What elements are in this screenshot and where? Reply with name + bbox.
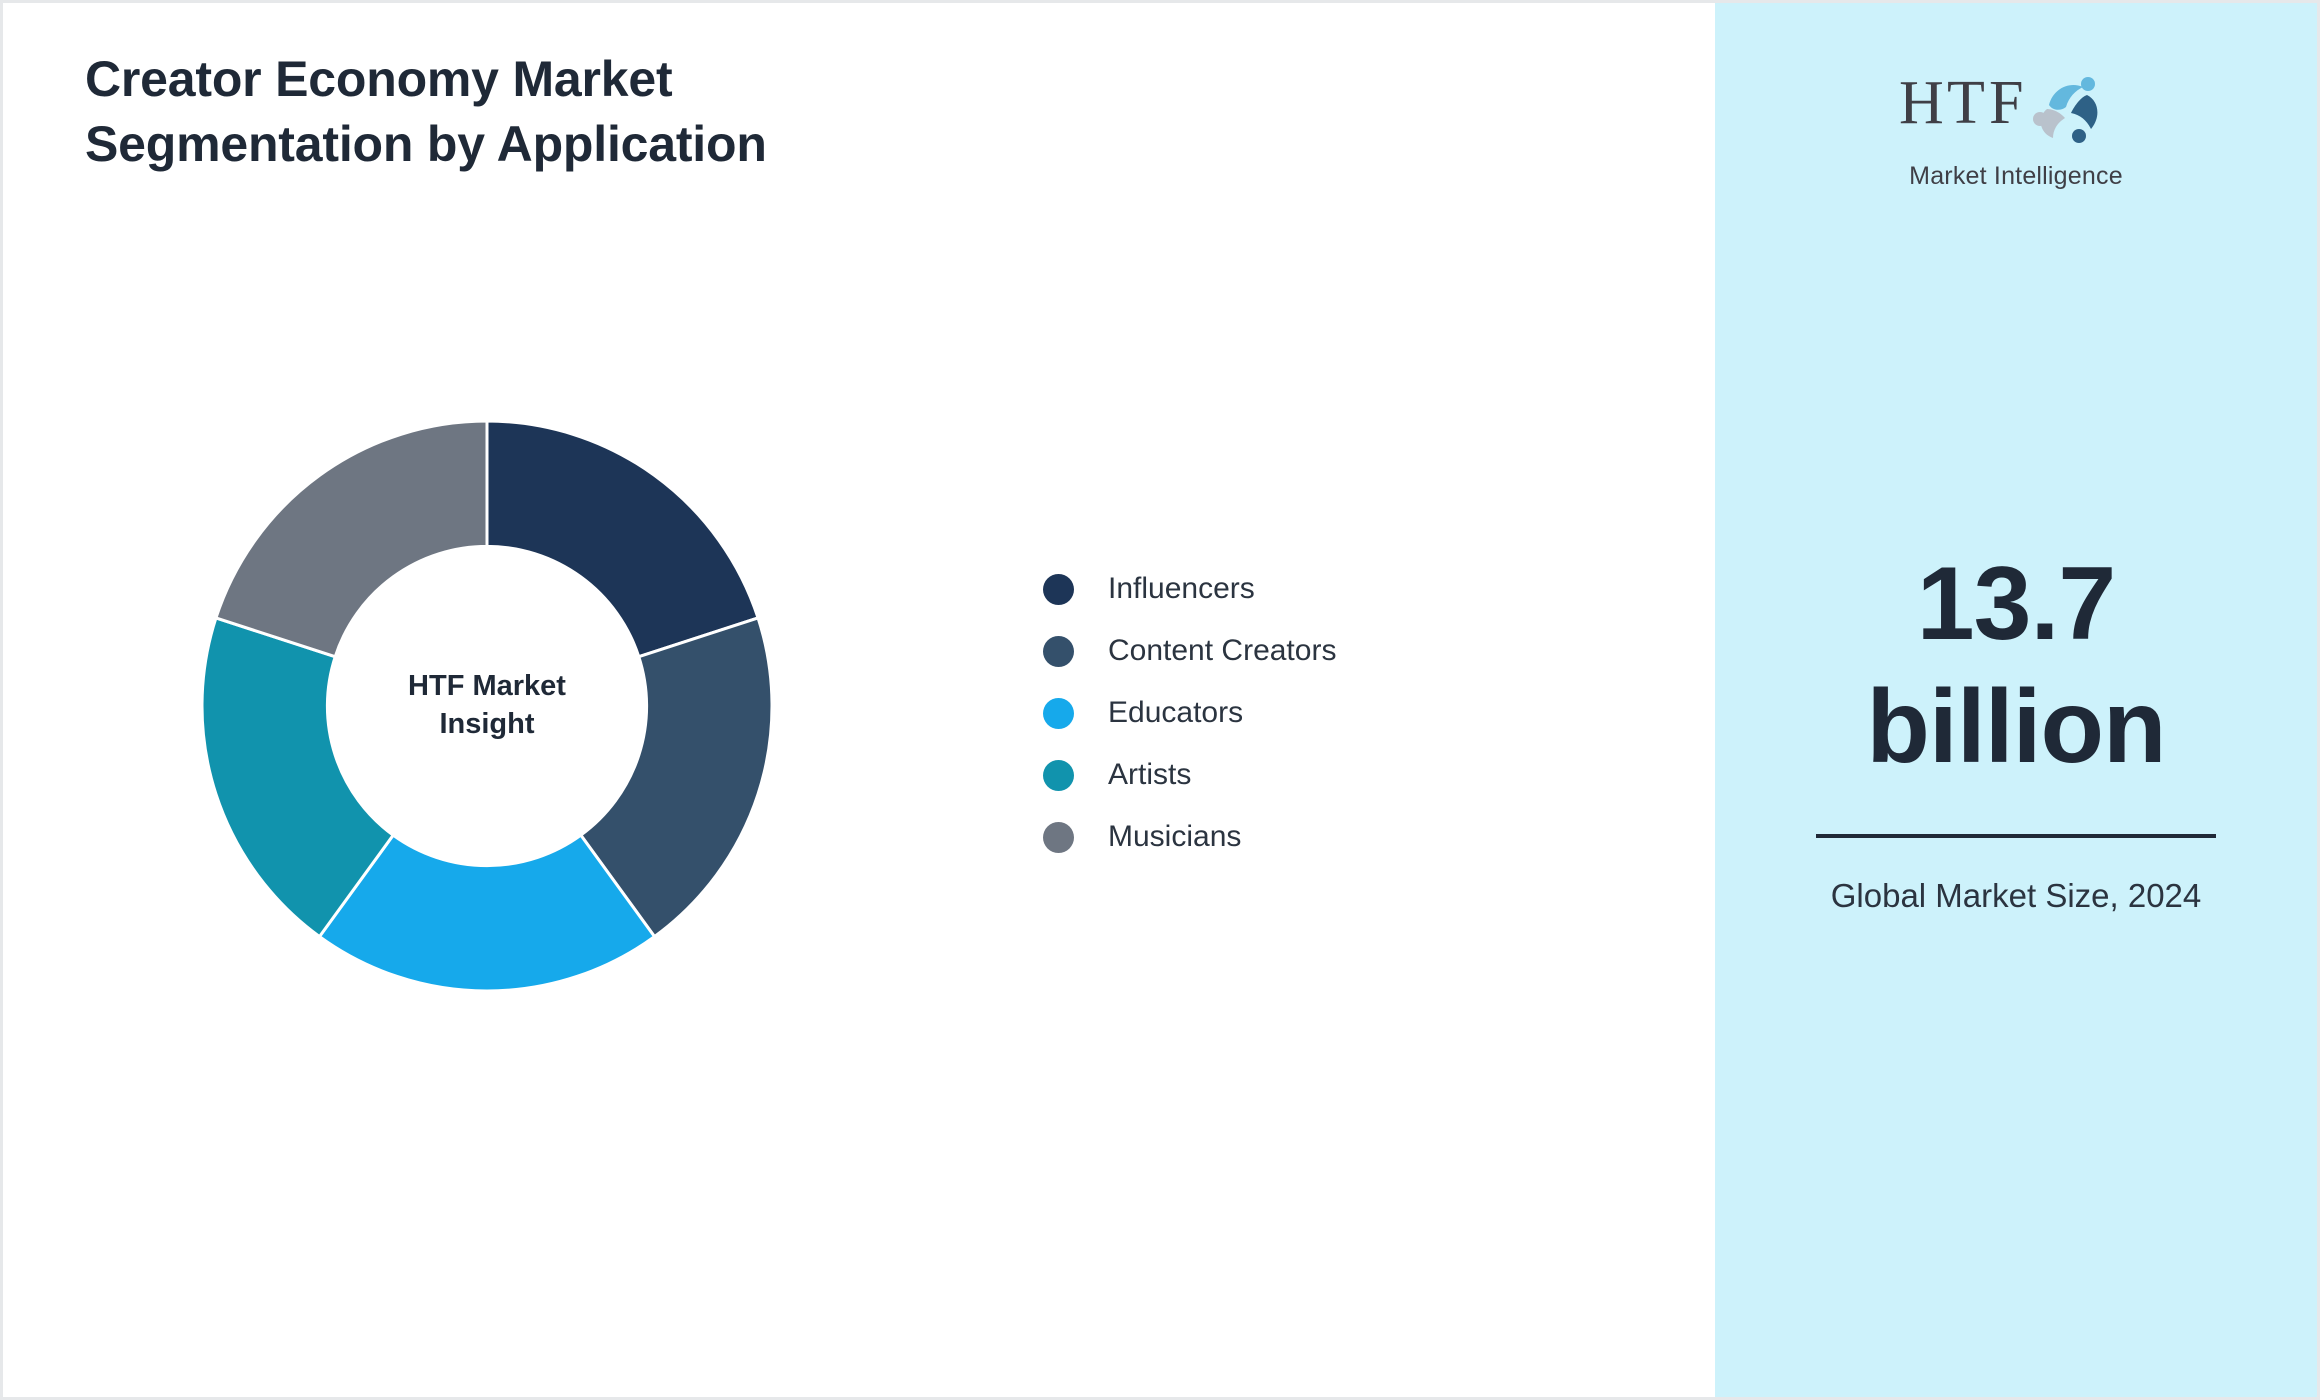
htf-logo-tagline: Market Intelligence (1886, 162, 2146, 191)
donut-chart: HTF Market Insight (202, 421, 772, 991)
chart-panel: Creator Economy Market Segmentation by A… (3, 3, 1715, 1397)
legend-label: Influencers (1108, 572, 1255, 606)
legend-item[interactable]: Artists (1043, 744, 1336, 806)
legend-swatch-icon (1043, 698, 1074, 729)
legend-item[interactable]: Musicians (1043, 806, 1336, 868)
svg-text:H: H (1899, 69, 1945, 137)
infographic-page: Creator Economy Market Segmentation by A… (0, 0, 2320, 1400)
legend-swatch-icon (1043, 636, 1074, 667)
chart-legend: InfluencersContent CreatorsEducatorsArti… (1043, 558, 1336, 868)
stat-caption: Global Market Size, 2024 (1786, 872, 2246, 920)
legend-swatch-icon (1043, 822, 1074, 853)
legend-label: Artists (1108, 758, 1191, 792)
page-title: Creator Economy Market Segmentation by A… (85, 47, 985, 177)
donut-slice[interactable] (487, 421, 758, 657)
legend-label: Educators (1108, 696, 1243, 730)
stat-value: 13.7 billion (1786, 543, 2246, 788)
legend-label: Content Creators (1108, 634, 1336, 668)
htf-logo-icon: H T F (1891, 61, 2141, 166)
svg-text:F: F (1989, 69, 2024, 137)
legend-item[interactable]: Influencers (1043, 558, 1336, 620)
market-size-stat: 13.7 billion Global Market Size, 2024 (1786, 543, 2246, 920)
legend-item[interactable]: Content Creators (1043, 620, 1336, 682)
legend-label: Musicians (1108, 820, 1241, 854)
stat-panel: H T F Market Intelligence 13 (1715, 3, 2317, 1397)
donut-chart-svg (202, 421, 772, 991)
svg-text:T: T (1947, 69, 1986, 137)
legend-item[interactable]: Educators (1043, 682, 1336, 744)
donut-slice[interactable] (216, 421, 487, 657)
legend-swatch-icon (1043, 574, 1074, 605)
htf-logo: H T F Market Intelligence (1886, 61, 2146, 191)
legend-swatch-icon (1043, 760, 1074, 791)
stat-divider (1816, 834, 2216, 838)
